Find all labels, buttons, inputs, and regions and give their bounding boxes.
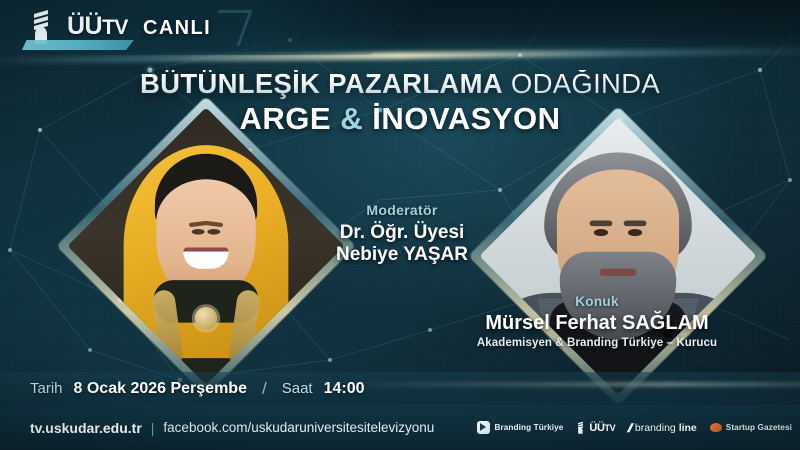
sponsor-branding-line-label: branding line [635, 422, 697, 434]
moderator-name-line-1: Dr. Öğr. Üyesi [312, 222, 492, 244]
sponsor-branding-turkiye-label: Branding Türkiye [494, 423, 563, 432]
title-line-1-tail: ODAĞINDA [503, 68, 660, 99]
sponsor-uutv-label: ÜÜTV [589, 422, 615, 434]
sponsor-branding-turkiye[interactable]: Branding Türkiye [477, 421, 563, 434]
footer-bar: tv.uskudar.edu.tr | facebook.com/uskudar… [0, 405, 800, 450]
sponsor-startup-gazetesi[interactable]: Startup Gazetesi [710, 423, 792, 432]
live-badge-label: CANLI [143, 17, 211, 40]
title-ampersand: & [340, 101, 363, 136]
website-link[interactable]: tv.uskudar.edu.tr [30, 420, 142, 436]
double-slash-icon: // [626, 421, 633, 435]
date-value: 8 Ocak 2026 Perşembe [74, 380, 247, 398]
uutv-logo-text: ÜÜTV [67, 14, 128, 39]
guest-info: Konuk Mürsel Ferhat SAĞLAM Akademisyen &… [432, 294, 762, 349]
orange-rocket-dot-icon [710, 423, 722, 432]
title-line-2: ARGE & İNOVASYON [0, 103, 800, 136]
sponsor-uutv[interactable]: ÜÜTV [576, 421, 615, 434]
tower-antenna-icon [576, 421, 587, 434]
title-line-1: BÜTÜNLEŞİK PAZARLAMA ODAĞINDA [0, 70, 800, 99]
logo-base-bar [22, 40, 134, 50]
b-play-mark-icon [477, 421, 490, 434]
guest-name: Mürsel Ferhat SAĞLAM [432, 312, 762, 334]
sponsor-branding-line[interactable]: // branding line [628, 421, 697, 435]
tower-antenna-icon [28, 7, 60, 45]
program-title: BÜTÜNLEŞİK PAZARLAMA ODAĞINDA ARGE & İNO… [0, 70, 800, 135]
moderator-role-label: Moderatör [312, 202, 492, 218]
title-line-2-b: İNOVASYON [363, 101, 560, 136]
sponsor-logos: Branding Türkiye ÜÜTV // branding line [477, 405, 792, 450]
header-bar: ÜÜTV CANLI [0, 0, 800, 55]
facebook-link[interactable]: facebook.com/uskudaruniversitesitelevizy… [163, 420, 434, 435]
guest-role-label: Konuk [432, 294, 762, 309]
moderator-info: Moderatör Dr. Öğr. Üyesi Nebiye YAŞAR [312, 202, 492, 267]
broadcast-promo-card: ÜÜTV CANLI BÜTÜNLEŞİK PAZARLAMA ODAĞINDA… [0, 0, 800, 450]
schedule-separator: / [262, 379, 267, 399]
date-label: Tarih [30, 380, 63, 397]
moderator-name-line-2: Nebiye YAŞAR [312, 244, 492, 266]
time-label: Saat [282, 380, 313, 397]
guest-subtitle: Akademisyen & Branding Türkiye – Kurucu [432, 337, 762, 349]
schedule-bar: Tarih 8 Ocak 2026 Perşembe / Saat 14:00 [0, 372, 800, 405]
uutv-logo[interactable]: ÜÜTV [28, 7, 128, 45]
moderator-name: Dr. Öğr. Üyesi Nebiye YAŞAR [312, 222, 492, 267]
footer-divider: | [151, 420, 155, 436]
time-value: 14:00 [324, 380, 365, 398]
sponsor-startup-gazetesi-label: Startup Gazetesi [726, 423, 792, 432]
